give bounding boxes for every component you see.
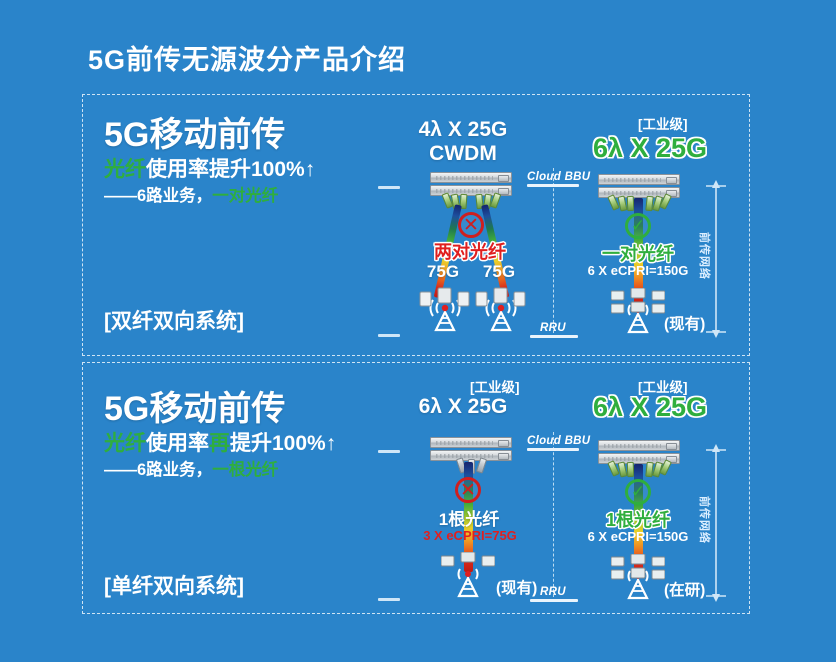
measure-label-top: 前传网络 — [697, 232, 713, 280]
colhead-single-6lambda-line1: 6λ X 25G — [393, 395, 533, 419]
rru-tower-icon — [418, 286, 472, 332]
rru-plane-rule-bottom — [530, 599, 578, 602]
passive-status-note-top: (现有) — [664, 312, 705, 334]
dual-fiber-system-tag: [双纤双向系统] — [104, 305, 244, 335]
dual-fiber-headline: 5G移动前传 — [104, 118, 404, 154]
single-fiber-subline: 光纤使用率再提升100%↑ — [104, 432, 404, 456]
rru-tower-icon — [474, 286, 528, 332]
x-icon: ✕ — [463, 214, 479, 237]
single-fiber-sub-d: 提升100%↑ — [230, 432, 336, 455]
measure-label-bottom: 前传网络 — [697, 496, 713, 544]
rru-plane-rule-top — [530, 335, 578, 338]
single-fiber-detail-a: ——6路业务， — [104, 461, 212, 479]
single-fiber-detail-b: 一根光纤 — [212, 461, 278, 479]
network-divider-bottom — [553, 432, 554, 602]
single-status-note-left: (现有) — [496, 576, 537, 598]
cloud-bbu-label-top: Cloud BBU — [527, 171, 590, 183]
x-icon: ✕ — [460, 479, 476, 502]
single-fiber-detail: ——6路业务，一根光纤 — [104, 461, 404, 480]
single-fiber-headline: 5G移动前传 — [104, 392, 404, 428]
colhead-passive-6lambda-line1: 6λ X 25G — [570, 133, 730, 164]
colhead-single-6lambda-dev: 6λ X 25G — [570, 392, 730, 423]
single-cable-label-left: 1根光纤 — [424, 505, 514, 530]
single-cable-rest-right: 根光纤 — [616, 510, 670, 530]
bbu-plane-rule-top — [527, 184, 579, 187]
network-divider-top — [553, 168, 554, 338]
single-fiber-system-tag: [单纤双向系统] — [104, 570, 244, 600]
industrial-tag-bottom-left: [工业级] — [470, 376, 520, 396]
dual-fiber-left-block: 5G移动前传 光纤使用率提升100%↑ ——6路业务，一对光纤 — [104, 118, 404, 206]
dual-fiber-sub-a: 光纤 — [104, 158, 146, 181]
single-fiber-sub-c: 再 — [209, 432, 230, 455]
tick-rru-bottom — [378, 598, 400, 601]
dual-fiber-detail: ——6路业务，一对光纤 — [104, 187, 404, 206]
colhead-single-6lambda-dev-line1: 6λ X 25G — [570, 392, 730, 423]
single-status-badge-ok: ✓ — [625, 479, 651, 505]
single-fiber-left-block: 5G移动前传 光纤使用率再提升100%↑ ——6路业务，一根光纤 — [104, 392, 404, 480]
single-rate-rest-left: X eCPRI=75G — [430, 528, 516, 543]
tick-rru-top — [378, 334, 400, 337]
colhead-cwdm-line2: CWDM — [393, 142, 533, 166]
dual-fiber-sub-b: 使用率提升100%↑ — [146, 158, 315, 181]
dual-fiber-detail-b: 一对光纤 — [212, 187, 278, 205]
bbu-plane-rule-bottom — [527, 448, 579, 451]
passive-status-badge-ok-top: ✓ — [625, 213, 651, 239]
industrial-tag-top-right: [工业级] — [638, 113, 688, 133]
cwdm-rate-right: 75G — [478, 262, 520, 282]
cwdm-status-badge-x: ✕ — [458, 212, 484, 238]
rru-tower-icon — [441, 552, 495, 598]
colhead-cwdm: 4λ X 25G CWDM — [393, 118, 533, 166]
single-status-note-right: (在研) — [664, 578, 705, 600]
colhead-single-6lambda: 6λ X 25G — [393, 395, 533, 419]
single-fiber-sub-b: 使用率 — [146, 432, 209, 455]
single-rate-label-left: 3 X eCPRI=75G — [409, 528, 531, 543]
rru-tower-icon — [611, 554, 665, 600]
cloud-bbu-label-bottom: Cloud BBU — [527, 435, 590, 447]
page-title: 5G前传无源波分产品介绍 — [88, 38, 406, 77]
single-cable-num-right: 1 — [606, 510, 616, 530]
cwdm-rate-left: 75G — [422, 262, 464, 282]
rru-label-top: RRU — [540, 322, 566, 334]
single-rate-label-right: 6 X eCPRI=150G — [577, 529, 699, 544]
rru-label-bottom: RRU — [540, 586, 566, 598]
colhead-cwdm-line1: 4λ X 25G — [393, 118, 533, 142]
dual-fiber-subline: 光纤使用率提升100%↑ — [104, 158, 404, 182]
tick-bbu-bottom — [378, 450, 400, 453]
cwdm-cable-label: 两对光纤 — [425, 238, 515, 264]
dual-fiber-detail-a: ——6路业务， — [104, 187, 212, 205]
passive-rate-label-top: 6 X eCPRI=150G — [577, 263, 699, 278]
check-icon: ✓ — [631, 216, 645, 236]
rru-tower-icon — [611, 288, 665, 334]
colhead-passive-6lambda: 6λ X 25G — [570, 133, 730, 164]
single-status-badge-x: ✕ — [455, 477, 481, 503]
single-fiber-sub-a: 光纤 — [104, 432, 146, 455]
slide-canvas: 5G前传无源波分产品介绍 5G移动前传 光纤使用率提升100%↑ ——6路业务，… — [0, 0, 836, 662]
tick-bbu-top — [378, 186, 400, 189]
check-icon: ✓ — [631, 482, 645, 502]
